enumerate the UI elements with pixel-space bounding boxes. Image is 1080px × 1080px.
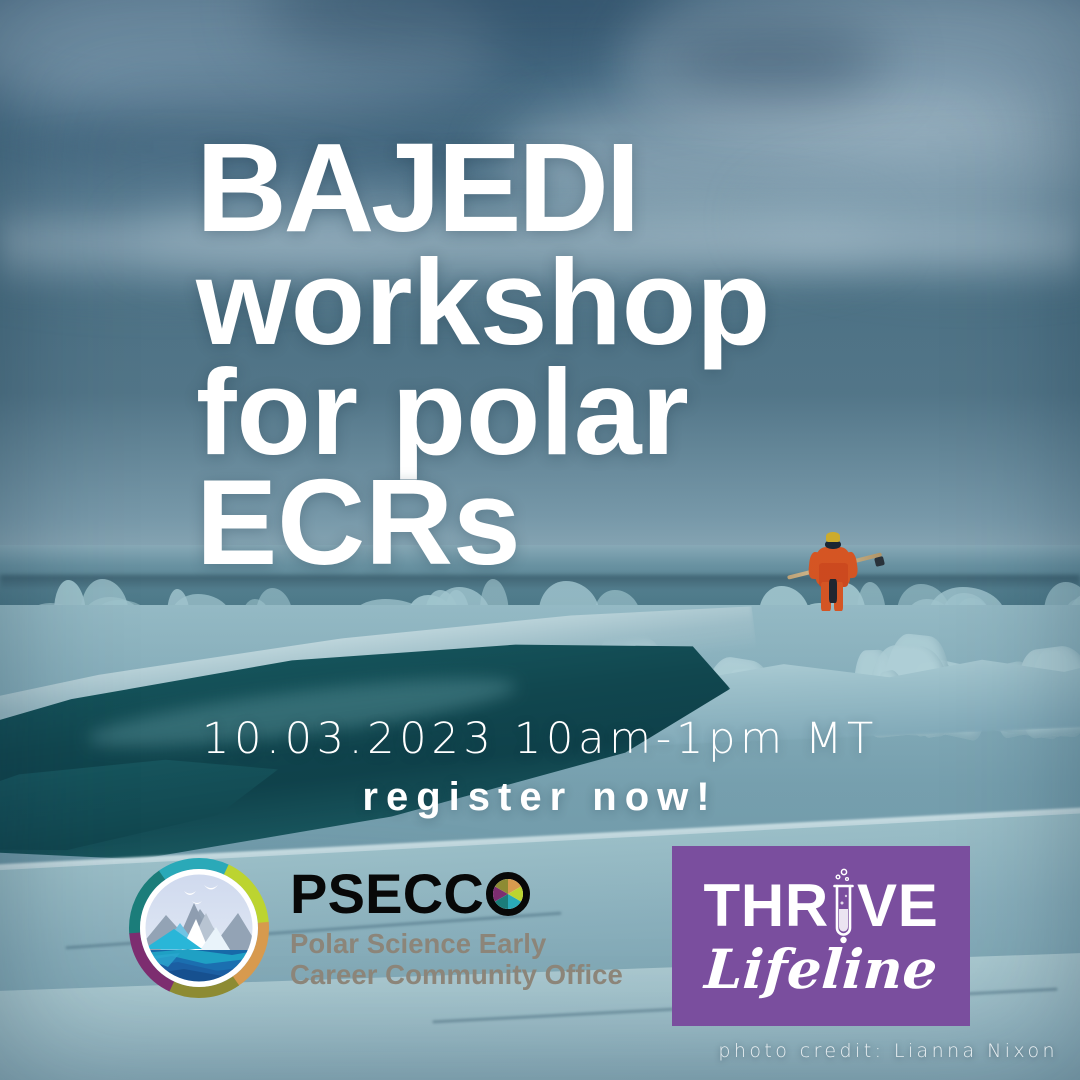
psecco-name-row: PSECC (290, 866, 623, 922)
figure-gear (829, 579, 837, 603)
psecco-logo[interactable]: PSECC Polar Science Early Career Communi… (128, 857, 623, 999)
psecco-wordmark: PSECC Polar Science Early Career Communi… (290, 866, 623, 990)
psecco-tagline: Polar Science Early Career Community Off… (290, 928, 623, 990)
psecco-name: PSECC (290, 866, 484, 922)
thrive-word-before: THR (704, 876, 829, 936)
photo-credit: photo credit: Lianna Nixon (718, 1040, 1058, 1062)
headline: BAJEDI workshop for polar ECRs (196, 126, 976, 582)
psecco-badge-icon (128, 857, 270, 999)
thrive-lifeline-logo[interactable]: THR VE Lifeline (672, 846, 970, 1026)
register-now-cta[interactable]: register now! (0, 775, 1080, 820)
psecco-tagline-line-2: Career Community Office (290, 959, 623, 990)
psecco-tagline-line-1: Polar Science Early (290, 928, 623, 959)
thrive-word-after: VE (857, 876, 938, 936)
psecco-emblem-icon (128, 857, 270, 999)
event-datetime: 10.03.2023 10am-1pm MT (0, 714, 1080, 764)
psecco-pie-icon (486, 872, 530, 916)
poster: BAJEDI workshop for polar ECRs 10.03.202… (0, 0, 1080, 1080)
headline-line-1: BAJEDI (196, 126, 976, 249)
thrive-wordmark: THR VE (704, 876, 939, 936)
test-tube-icon (830, 867, 856, 945)
thrive-subtitle: Lifeline (703, 942, 939, 996)
headline-line-4: ECRs (196, 463, 976, 583)
test-tube-glyph (830, 867, 856, 945)
cloud (648, 22, 886, 101)
